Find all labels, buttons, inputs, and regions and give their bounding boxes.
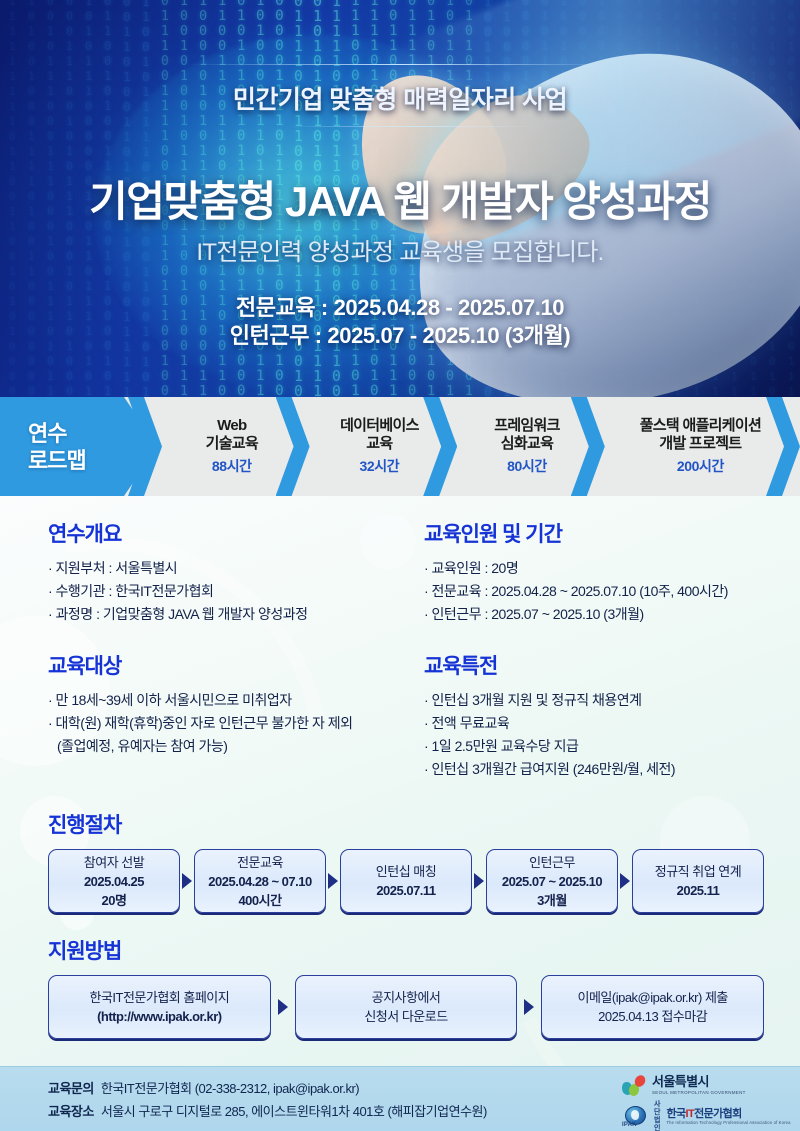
benefits-item: · 인턴십 3개월 지원 및 정규직 채용연계: [424, 689, 764, 712]
roadmap-step-1-name-line2: 기술교육: [206, 435, 258, 453]
apply-step-2-line2: 신청서 다운로드: [364, 1007, 447, 1026]
apply-step-3[interactable]: 이메일(ipak@ipak.or.kr) 제출 2025.04.13 접수마감: [541, 975, 764, 1039]
roadmap-step-4-hours: 200시간: [677, 456, 724, 476]
hero-eyebrow: 민간기업 맞춤형 매력일자리 사업: [0, 80, 800, 116]
roadmap-step-3-name-line2: 심화교육: [494, 435, 560, 453]
info-row-2: 교육대상 · 만 18세~39세 이하 서울시민으로 미취업자 · 대학(원) …: [48, 650, 764, 781]
roadmap-step-2-name-line2: 교육: [340, 435, 419, 453]
process-step-5-title: 정규직 취업 연계: [655, 862, 741, 881]
target-item: · 대학(원) 재학(휴학)중인 자로 인턴근무 불가한 자 제외: [48, 712, 424, 735]
process-step-5: 정규직 취업 연계 2025.11: [632, 849, 764, 913]
process-step-4-detail: 3개월: [537, 891, 567, 910]
ipak-name-part3: 전문가협회: [694, 1108, 742, 1120]
hero-subtitle: IT전문인력 양성과정 교육생을 모집합니다.: [0, 232, 800, 267]
process-step-1-detail: 20명: [102, 891, 127, 910]
footer-location-value: 서울시 구로구 디지털로 285, 에이스트윈타워1차 401호 (해피잡기업연…: [101, 1104, 487, 1119]
section-target-heading: 교육대상: [48, 650, 424, 680]
section-process-heading: 진행절차: [48, 809, 764, 839]
process-step-4-title: 인턴근무: [529, 853, 575, 872]
section-overview: 연수개요 · 지원부처 : 서울특별시 · 수행기관 : 한국IT전문가협회 ·…: [48, 518, 424, 626]
process-step-1-title: 참여자 선발: [84, 853, 144, 872]
section-capacity-heading: 교육인원 및 기간: [424, 518, 764, 548]
ipak-legal-prefix-line2: 법인: [654, 1117, 660, 1131]
section-process: 진행절차 참여자 선발 2025.04.25 20명 전문교육 2025.04.…: [48, 809, 764, 913]
roadmap-step-3-name-line1: 프레임워크: [494, 417, 560, 435]
apply-step-3-email[interactable]: 이메일(ipak@ipak.or.kr) 제출: [578, 988, 728, 1007]
process-step-5-date: 2025.11: [677, 881, 720, 900]
overview-item: · 수행기관 : 한국IT전문가협회: [48, 580, 424, 603]
roadmap-step-3-hours: 80시간: [507, 456, 547, 476]
seoul-logo-name: 서울특별시: [652, 1075, 746, 1089]
process-step-2-date: 2025.04.28 ~ 07.10: [208, 872, 311, 891]
ipak-logo-english: The Information Technology Professional …: [666, 1119, 790, 1126]
roadmap-step-1-hours: 88시간: [212, 456, 252, 476]
page-title: 기업맞춤형 JAVA 웹 개발자 양성과정: [0, 168, 800, 229]
section-capacity: 교육인원 및 기간 · 교육인원 : 20명 · 전문교육 : 2025.04.…: [424, 518, 764, 626]
ipak-name-part2: IT: [686, 1108, 695, 1120]
arrow-right-icon: [180, 873, 194, 889]
footer: 교육문의한국IT전문가협회 (02-338-2312, ipak@ipak.or…: [0, 1066, 800, 1131]
benefits-item: · 1일 2.5만원 교육수당 지급: [424, 735, 764, 758]
arrow-right-icon: [326, 873, 340, 889]
roadmap-step-4-name-line2: 개발 프로젝트: [640, 435, 761, 453]
hero-date-training: 전문교육 : 2025.04.28 - 2025.07.10: [0, 294, 800, 322]
process-step-3-title: 인턴십 매칭: [376, 862, 436, 881]
process-step-1: 참여자 선발 2025.04.25 20명: [48, 849, 180, 913]
footer-contact-value: 한국IT전문가협회 (02-338-2312, ipak@ipak.or.kr): [101, 1081, 359, 1096]
section-apply: 지원방법 한국IT전문가협회 홈페이지 (http://www.ipak.or.…: [48, 935, 764, 1039]
apply-step-1-url[interactable]: (http://www.ipak.or.kr): [97, 1007, 222, 1026]
hero-dates: 전문교육 : 2025.04.28 - 2025.07.10 인턴근무 : 20…: [0, 294, 800, 350]
process-step-3-date: 2025.07.11: [376, 881, 435, 900]
seoul-logo-english: SEOUL METROPOLITAN GOVERNMENT: [652, 1089, 746, 1096]
ipak-logo-wordmark: IPAK: [622, 1122, 637, 1128]
footer-contact-label: 교육문의: [48, 1081, 94, 1096]
footer-location-row: 교육장소서울시 구로구 디지털로 285, 에이스트윈타워1차 401호 (해피…: [48, 1100, 487, 1123]
arrow-right-icon: [472, 873, 486, 889]
footer-logos: 서울특별시 SEOUL METROPOLITAN GOVERNMENT IPAK…: [622, 1072, 782, 1130]
roadmap-label-line1: 연수: [28, 420, 86, 447]
capacity-item: · 인턴근무 : 2025.07 ~ 2025.10 (3개월): [424, 603, 764, 626]
process-flow: 참여자 선발 2025.04.25 20명 전문교육 2025.04.28 ~ …: [48, 849, 764, 913]
apply-step-2: 공지사항에서 신청서 다운로드: [295, 975, 518, 1039]
roadmap-step-4: 풀스택 애플리케이션 개발 프로젝트 200시간: [601, 397, 800, 496]
poster: 1 1 1 1 0 1 1 1 0 0 0 1 1 1 1 1 1 0 1 0 …: [0, 0, 800, 1131]
arrow-right-icon: [618, 873, 632, 889]
apply-step-2-line1: 공지사항에서: [372, 988, 441, 1007]
roadmap-step-1-name-line1: Web: [206, 417, 258, 435]
chevron-end-icon: [766, 397, 800, 496]
process-step-2: 전문교육 2025.04.28 ~ 07.10 400시간: [194, 849, 326, 913]
roadmap-label-line2: 로드맵: [28, 447, 86, 474]
ipak-logo-mark-icon: IPAK: [622, 1106, 650, 1128]
apply-step-3-deadline: 2025.04.13 접수마감: [598, 1007, 707, 1026]
hero-date-internship: 인턴근무 : 2025.07 - 2025.10 (3개월): [0, 322, 800, 350]
seoul-government-logo: 서울특별시 SEOUL METROPOLITAN GOVERNMENT: [622, 1072, 782, 1099]
divider-line-secondary: [290, 126, 540, 127]
seoul-logo-mark-icon: [622, 1075, 646, 1097]
process-step-2-title: 전문교육: [237, 853, 283, 872]
content-area: 연수개요 · 지원부처 : 서울특별시 · 수행기관 : 한국IT전문가협회 ·…: [0, 496, 800, 1066]
ipak-name-part1: 한국: [666, 1108, 685, 1120]
arrow-right-icon: [271, 999, 295, 1015]
roadmap-bar: 연수 로드맵 Web 기술교육 88시간 데이터베이스 교육 32시간 프레임워…: [0, 397, 800, 496]
capacity-item: · 교육인원 : 20명: [424, 557, 764, 580]
capacity-item: · 전문교육 : 2025.04.28 ~ 2025.07.10 (10주, 4…: [424, 580, 764, 603]
roadmap-step-2-name-line1: 데이터베이스: [340, 417, 419, 435]
process-step-4-date: 2025.07 ~ 2025.10: [502, 872, 602, 891]
roadmap-step-2-hours: 32시간: [360, 456, 400, 476]
apply-step-1-title: 한국IT전문가협회 홈페이지: [89, 988, 229, 1007]
roadmap-step-4-name-line1: 풀스택 애플리케이션: [640, 417, 761, 435]
apply-step-1[interactable]: 한국IT전문가협회 홈페이지 (http://www.ipak.or.kr): [48, 975, 271, 1039]
arrow-right-icon: [517, 999, 541, 1015]
process-step-2-detail: 400시간: [238, 891, 281, 910]
section-benefits-heading: 교육특전: [424, 650, 764, 680]
info-row-1: 연수개요 · 지원부처 : 서울특별시 · 수행기관 : 한국IT전문가협회 ·…: [48, 518, 764, 626]
apply-flow: 한국IT전문가협회 홈페이지 (http://www.ipak.or.kr) 공…: [48, 975, 764, 1039]
overview-item: · 지원부처 : 서울특별시: [48, 557, 424, 580]
process-step-3: 인턴십 매칭 2025.07.11: [340, 849, 472, 913]
process-step-4: 인턴근무 2025.07 ~ 2025.10 3개월: [486, 849, 618, 913]
target-item: · 만 18세~39세 이하 서울시민으로 미취업자: [48, 689, 424, 712]
section-overview-heading: 연수개요: [48, 518, 424, 548]
section-target: 교육대상 · 만 18세~39세 이하 서울시민으로 미취업자 · 대학(원) …: [48, 650, 424, 781]
ipak-logo-name: 한국IT전문가협회: [666, 1109, 790, 1119]
ipak-logo: IPAK 사단 법인 한국IT전문가협회 The Information Tec…: [622, 1104, 782, 1130]
ipak-legal-prefix-line1: 사단: [654, 1101, 660, 1117]
section-benefits: 교육특전 · 인턴십 3개월 지원 및 정규직 채용연계 · 전액 무료교육 ·…: [424, 650, 764, 781]
ipak-legal-prefix: 사단 법인: [654, 1101, 660, 1131]
process-step-1-date: 2025.04.25: [84, 872, 144, 891]
footer-contact-row: 교육문의한국IT전문가협회 (02-338-2312, ipak@ipak.or…: [48, 1077, 487, 1100]
target-item-note: (졸업예정, 유예자는 참여 가능): [48, 735, 424, 758]
footer-location-label: 교육장소: [48, 1104, 94, 1119]
section-apply-heading: 지원방법: [48, 935, 764, 965]
divider-line: [190, 64, 610, 65]
hero-banner: 1 1 1 1 0 1 1 1 0 0 0 1 1 1 1 1 1 0 1 0 …: [0, 0, 800, 397]
benefits-item: · 전액 무료교육: [424, 712, 764, 735]
overview-item: · 과정명 : 기업맞춤형 JAVA 웹 개발자 양성과정: [48, 603, 424, 626]
footer-contact-block: 교육문의한국IT전문가협회 (02-338-2312, ipak@ipak.or…: [0, 1077, 487, 1123]
benefits-item: · 인턴십 3개월간 급여지원 (246만원/월, 세전): [424, 758, 764, 781]
